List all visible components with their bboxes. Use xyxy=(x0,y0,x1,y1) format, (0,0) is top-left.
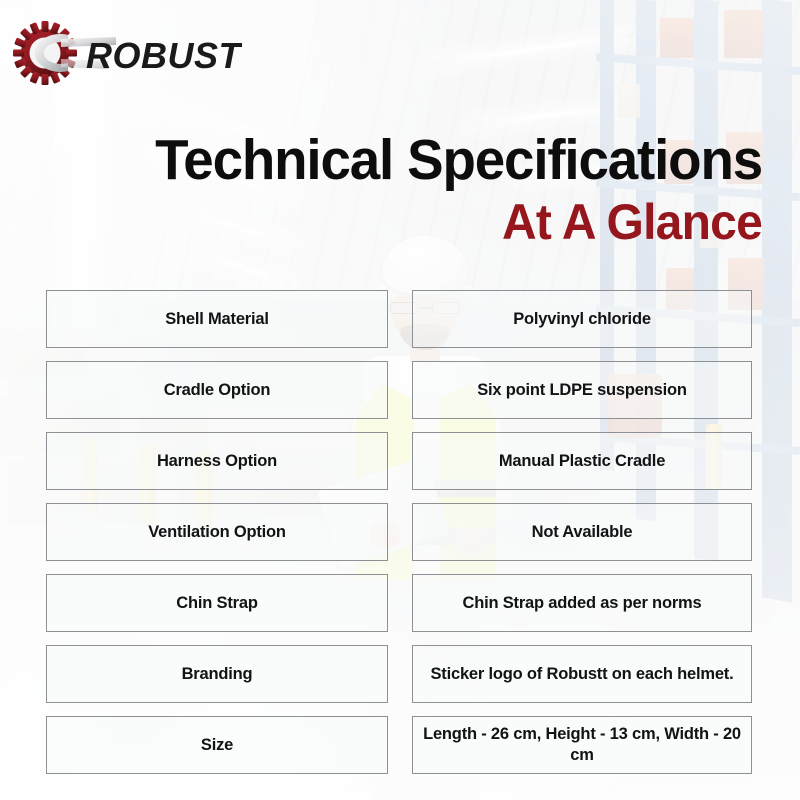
infographic-content: ROBUSTT Technical Specifications At A Gl… xyxy=(0,0,800,800)
infographic-canvas: ROBUSTT Technical Specifications At A Gl… xyxy=(0,0,800,800)
page-title-line1: Technical Specifications xyxy=(30,130,762,190)
spec-value-cell: Not Available xyxy=(412,503,752,561)
spec-label-cell: Chin Strap xyxy=(46,574,388,632)
page-title-block: Technical Specifications At A Glance xyxy=(0,130,762,250)
table-row: Chin Strap Chin Strap added as per norms xyxy=(46,574,752,632)
spec-label-cell: Size xyxy=(46,716,388,774)
spec-value-cell: Manual Plastic Cradle xyxy=(412,432,752,490)
table-row: Size Length - 26 cm, Height - 13 cm, Wid… xyxy=(46,716,752,774)
spec-label-cell: Harness Option xyxy=(46,432,388,490)
table-row: Cradle Option Six point LDPE suspension xyxy=(46,361,752,419)
spec-label-cell: Branding xyxy=(46,645,388,703)
table-row: Branding Sticker logo of Robustt on each… xyxy=(46,645,752,703)
table-row: Ventilation Option Not Available xyxy=(46,503,752,561)
spec-label-cell: Cradle Option xyxy=(46,361,388,419)
table-row: Shell Material Polyvinyl chloride xyxy=(46,290,752,348)
spec-label-cell: Ventilation Option xyxy=(46,503,388,561)
spec-value-cell: Length - 26 cm, Height - 13 cm, Width - … xyxy=(412,716,752,774)
spec-value-cell: Chin Strap added as per norms xyxy=(412,574,752,632)
spec-value-cell: Sticker logo of Robustt on each helmet. xyxy=(412,645,752,703)
robustt-logo[interactable]: ROBUSTT xyxy=(12,20,242,86)
spec-label-cell: Shell Material xyxy=(46,290,388,348)
specifications-table: Shell Material Polyvinyl chloride Cradle… xyxy=(46,290,752,774)
logo-wordmark: ROBUSTT xyxy=(86,35,242,76)
page-title-line2: At A Glance xyxy=(30,194,762,250)
spec-value-cell: Six point LDPE suspension xyxy=(412,361,752,419)
gear-wrench-icon: ROBUSTT xyxy=(12,20,242,86)
table-row: Harness Option Manual Plastic Cradle xyxy=(46,432,752,490)
spec-value-cell: Polyvinyl chloride xyxy=(412,290,752,348)
